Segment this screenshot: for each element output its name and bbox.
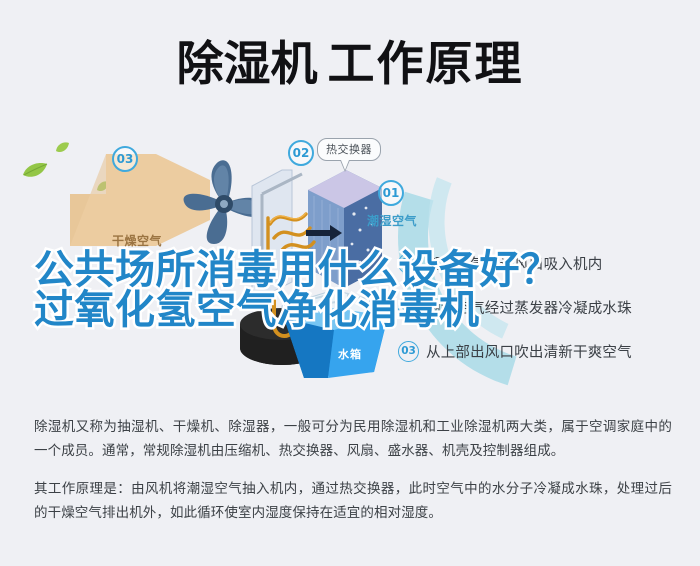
step-item-02: 02 潮湿空气经过蒸发器冷凝成水珠	[398, 290, 688, 324]
heat-exchanger-callout: 热交换器	[317, 138, 381, 161]
page-header: 除湿机工作原理	[0, 0, 700, 128]
step-badge-01: 01	[398, 253, 419, 274]
water-tank-group-icon: 水箱	[238, 288, 418, 384]
dry-air-label: 干燥空气	[112, 232, 162, 249]
step-badge-03: 03	[398, 341, 419, 362]
body-paragraph-1: 除湿机又称为抽湿机、干燥机、除湿器，一般可分为民用除湿机和工业除湿机两大类，属于…	[34, 415, 672, 463]
step-item-03: 03 从上部出风口吹出清新干爽空气	[398, 334, 688, 368]
water-tank-label: 水箱	[338, 346, 362, 362]
marker-01-humid-air: 01	[378, 180, 404, 206]
page-title: 除湿机工作原理	[177, 41, 524, 88]
marker-03-dry-air: 03	[112, 146, 138, 172]
leaf-icon	[22, 162, 48, 185]
dehumidifier-diagram: 干燥空气 03	[0, 128, 700, 390]
article-body: 除湿机又称为抽湿机、干燥机、除湿器，一般可分为民用除湿机和工业除湿机两大类，属于…	[34, 415, 672, 525]
page-title-part-2: 工作原理	[328, 37, 524, 92]
step-badge-02: 02	[398, 297, 419, 318]
step-text-02: 潮湿空气经过蒸发器冷凝成水珠	[426, 297, 632, 318]
step-item-01: 01 潮湿空气由进风口吸入机内	[398, 246, 688, 280]
page-title-part-1: 除湿机	[177, 37, 318, 92]
humid-air-label: 潮湿空气	[367, 212, 417, 229]
body-paragraph-2: 其工作原理是：由风机将潮湿空气抽入机内，通过热交换器，此时空气中的水分子冷凝成水…	[34, 477, 672, 525]
marker-02-heat-exchanger: 02	[288, 140, 314, 166]
step-list: 01 潮湿空气由进风口吸入机内 02 潮湿空气经过蒸发器冷凝成水珠 03 从上部…	[398, 246, 688, 378]
step-text-03: 从上部出风口吹出清新干爽空气	[426, 341, 632, 362]
step-text-01: 潮湿空气由进风口吸入机内	[426, 253, 602, 274]
